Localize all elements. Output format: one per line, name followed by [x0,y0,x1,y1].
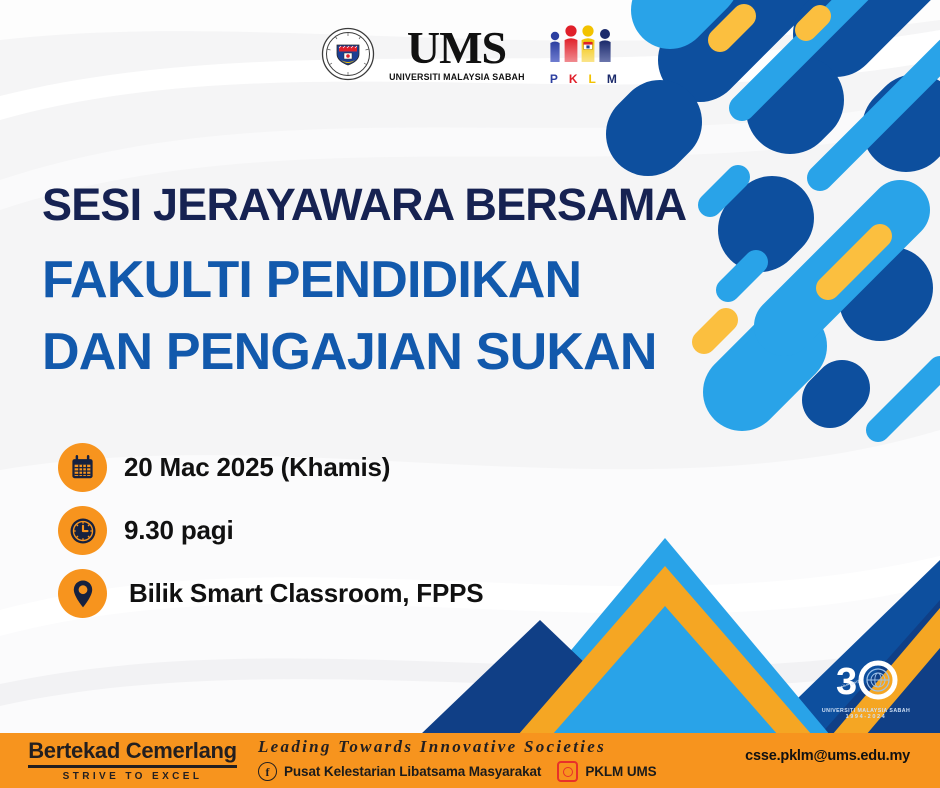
decorative-shapes [0,0,940,788]
footer-center: Leading Towards Innovative Societies f P… [258,737,657,782]
motto-sub: STRIVE TO EXCEL [63,771,203,782]
ums-wordmark: UMS [407,25,506,71]
footer-email[interactable]: csse.pklm@ums.edu.my [745,748,910,764]
location-pin-icon [58,569,107,618]
footer-tagline: Leading Towards Innovative Societies [258,737,657,757]
headline-line-3: DAN PENGAJIAN SUKAN [42,317,686,389]
anniversary-org: UNIVERSITI MALAYSIA SABAH [822,708,910,714]
headline-line-1: SESI JERAYAWARA BERSAMA [42,182,686,227]
footer-social-row: f Pusat Kelestarian Libatsama Masyarakat… [258,761,657,782]
anniversary-badge: 3 اونيورسيتي UNIVERSITI MALAYSIA SABAH 1… [824,658,908,720]
footer-bar: Bertekad Cemerlang STRIVE TO EXCEL Leadi… [0,733,940,788]
detail-date-text: 20 Mac 2025 (Khamis) [124,452,390,483]
instagram-icon[interactable] [557,761,578,782]
pklm-letter-m: M [607,72,617,86]
motto-main: Bertekad Cemerlang [28,738,237,768]
header-logos: UMS UNIVERSITI MALAYSIA SABAH [0,18,940,90]
ums-crest-icon [321,27,375,81]
facebook-label[interactable]: Pusat Kelestarian Libatsama Masyarakat [284,764,541,779]
anniversary-30-icon: 3 اونيورسيتي [834,658,898,702]
pklm-letter-p: P [550,72,558,86]
poster-canvas: UMS UNIVERSITI MALAYSIA SABAH [0,0,940,788]
detail-time-text: 9.30 pagi [124,515,233,546]
instagram-label[interactable]: PKLM UMS [585,764,656,779]
ums-subtitle: UNIVERSITI MALAYSIA SABAH [389,73,525,83]
clock-icon [58,506,107,555]
event-details: 20 Mac 2025 (Khamis) [58,443,483,632]
pklm-letters: P K L M [550,72,617,86]
pklm-letter-k: K [569,72,578,86]
pklm-figures-icon [547,23,619,71]
footer-motto: Bertekad Cemerlang STRIVE TO EXCEL [20,738,245,782]
headline-line-2: FAKULTI PENDIDIKAN [42,245,686,317]
detail-venue-text: Bilik Smart Classroom, FPPS [129,578,483,609]
pklm-letter-l: L [589,72,596,86]
detail-row-venue: Bilik Smart Classroom, FPPS [58,569,483,618]
ums-logo: UMS UNIVERSITI MALAYSIA SABAH [321,25,530,83]
calendar-icon [58,443,107,492]
headline-block: SESI JERAYAWARA BERSAMA FAKULTI PENDIDIK… [42,182,686,389]
detail-row-time: 9.30 pagi [58,506,483,555]
detail-row-date: 20 Mac 2025 (Khamis) [58,443,483,492]
pklm-logo: P K L M [547,23,619,86]
facebook-icon[interactable]: f [258,762,277,781]
anniversary-years: 1994-2024 [824,714,908,720]
